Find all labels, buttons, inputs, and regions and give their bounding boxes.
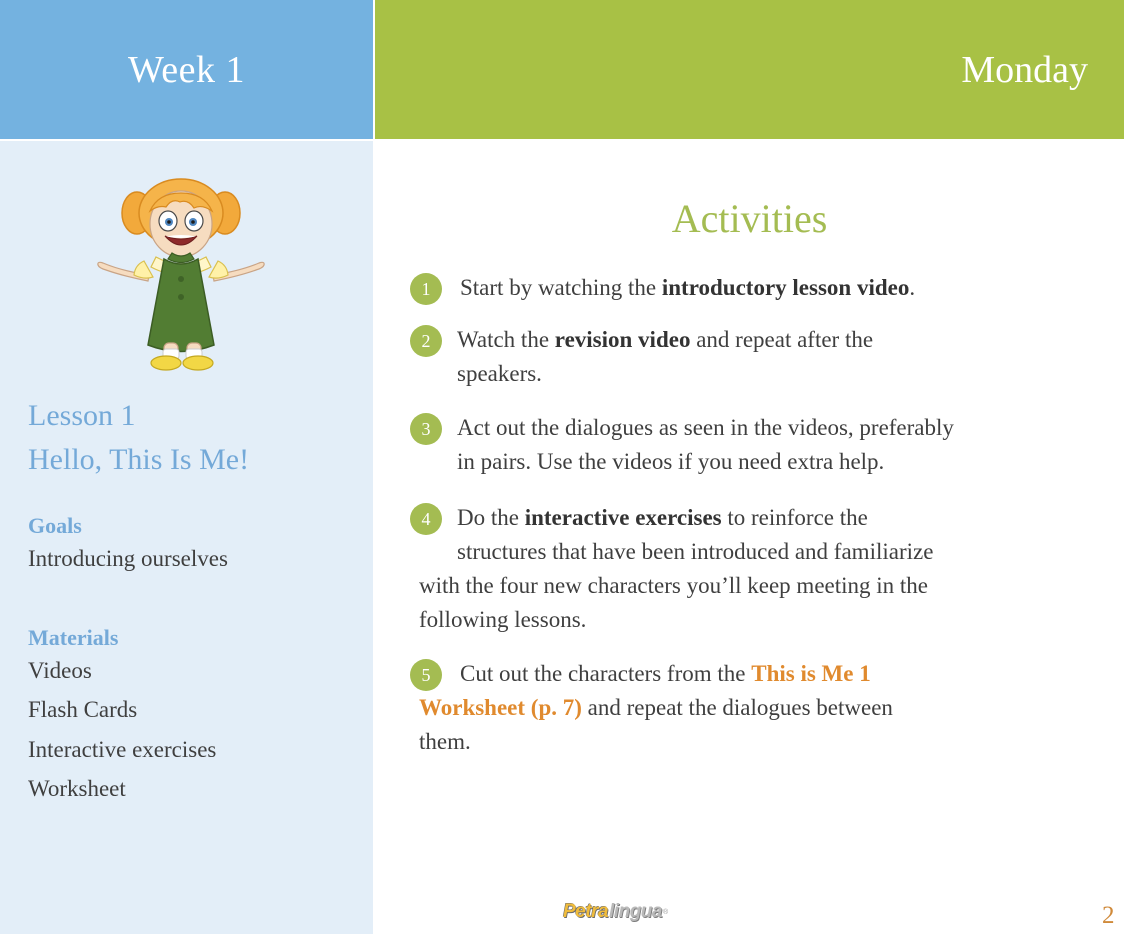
lesson-name: Hello, This Is Me!: [28, 438, 359, 482]
activity-item-2: 2 Watch the revision video and repeat af…: [410, 323, 1118, 391]
main-content: Activities 1 Start by watching the intro…: [375, 141, 1124, 934]
logo-petra-text: Petra: [563, 901, 608, 923]
activity-4-text-before: Do the: [457, 505, 525, 530]
activity-item-5: 5 Cut out the characters from the This i…: [410, 657, 1118, 759]
activity-1-text-before: Start by watching the: [460, 275, 662, 300]
activity-5-line-2-after: and repeat the dialogues between: [582, 695, 893, 720]
activity-4-bold: interactive exercises: [525, 505, 722, 530]
activity-2-line-2: speakers.: [457, 361, 542, 386]
activity-text-1: Start by watching the introductory lesso…: [410, 271, 1118, 305]
activity-badge-1: 1: [410, 273, 442, 305]
activity-item-1: 1 Start by watching the introductory les…: [410, 271, 1118, 305]
activity-text-5: Cut out the characters from the This is …: [410, 657, 1118, 691]
activity-5-text-before: Cut out the characters from the: [460, 661, 751, 686]
sidebar-content: Lesson 1 Hello, This Is Me! Goals Introd…: [28, 394, 359, 809]
activity-4-line-3: with the four new characters you’ll keep…: [419, 573, 928, 598]
activity-text-2: Watch the revision video and repeat afte…: [410, 323, 1118, 391]
activity-5-overflow: Worksheet (p. 7) and repeat the dialogue…: [410, 691, 1118, 759]
activity-2-bold: revision video: [555, 327, 691, 352]
activity-1-bold: introductory lesson video: [662, 275, 909, 300]
sidebar: Lesson 1 Hello, This Is Me! Goals Introd…: [0, 141, 373, 934]
activity-text-3: Act out the dialogues as seen in the vid…: [410, 411, 1118, 479]
activities-list: 1 Start by watching the introductory les…: [375, 271, 1124, 759]
activity-5-highlight-1: This is Me 1: [751, 661, 870, 686]
materials-item-interactive-exercises: Interactive exercises: [28, 730, 359, 770]
activity-badge-3: 3: [410, 413, 442, 445]
activity-2-text-after: and repeat after the: [690, 327, 873, 352]
activity-4-text-after: to reinforce the: [722, 505, 868, 530]
activity-text-4: Do the interactive exercises to reinforc…: [410, 501, 1118, 569]
activity-4-line-4: following lessons.: [419, 607, 586, 632]
goals-item: Introducing ourselves: [28, 539, 359, 579]
materials-item-videos: Videos: [28, 651, 359, 691]
logo-lingua-text: lingua: [609, 901, 662, 923]
activity-1-text-after: .: [909, 275, 915, 300]
header-week-banner: Week 1: [0, 0, 373, 139]
girl-character-icon: [92, 171, 272, 371]
header-day-banner: Monday: [375, 0, 1124, 139]
activity-3-line-2: in pairs. Use the videos if you need ext…: [457, 449, 884, 474]
activity-2-text-before: Watch the: [457, 327, 555, 352]
lesson-page: Week 1 Monday: [0, 0, 1124, 934]
activity-badge-4: 4: [410, 503, 442, 535]
activity-item-3: 3 Act out the dialogues as seen in the v…: [410, 411, 1118, 479]
activity-3-line-1: Act out the dialogues as seen in the vid…: [457, 415, 954, 440]
activity-5-line-3: them.: [419, 729, 471, 754]
activity-4-line-2: structures that have been introduced and…: [457, 539, 933, 564]
petralingua-logo: Petralingua®: [563, 899, 673, 925]
goals-heading: Goals: [28, 513, 359, 539]
page-number: 2: [1102, 902, 1124, 930]
materials-item-worksheet: Worksheet: [28, 769, 359, 809]
activity-5-highlight-2: Worksheet (p. 7): [419, 695, 582, 720]
materials-heading: Materials: [28, 625, 359, 651]
activity-item-4: 4 Do the interactive exercises to reinfo…: [410, 501, 1118, 637]
page-title: Activities: [375, 141, 1124, 239]
materials-item-flash-cards: Flash Cards: [28, 690, 359, 730]
activity-4-overflow: with the four new characters you’ll keep…: [410, 569, 1118, 637]
day-label: Monday: [961, 51, 1124, 89]
week-label: Week 1: [128, 51, 245, 89]
registered-trademark-icon: ®: [663, 909, 668, 916]
lesson-number: Lesson 1: [28, 394, 359, 438]
activity-badge-2: 2: [410, 325, 442, 357]
